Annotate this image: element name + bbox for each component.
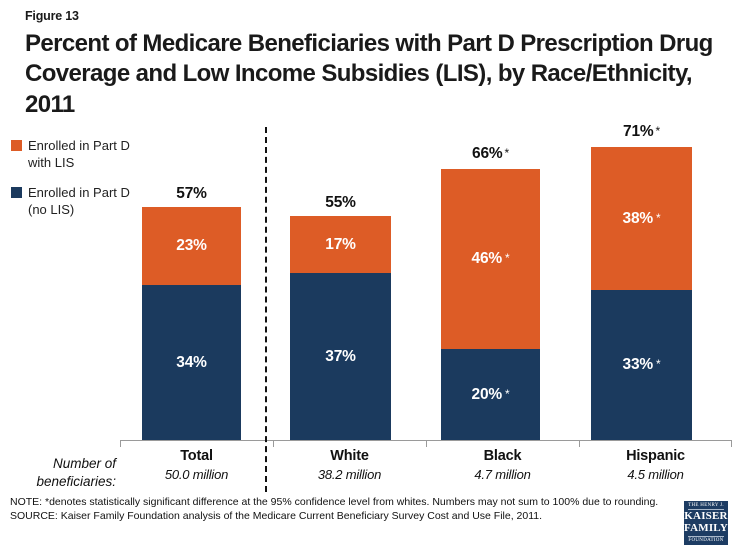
bar-segment-with-lis-black[interactable]: 46%* <box>441 169 540 349</box>
bar-group-black[interactable]: 66%* 46%* 20%* <box>441 169 540 440</box>
page-title: Percent of Medicare Beneficiaries with P… <box>25 29 725 120</box>
legend-swatch-no-lis <box>11 187 22 198</box>
footer-notes: NOTE: *denotes statistically significant… <box>10 495 670 524</box>
category-axis-labels: Total 50.0 million White 38.2 million Bl… <box>120 448 732 492</box>
bar-total-label-white: 55% <box>290 194 391 212</box>
bar-stack-total: 23% 34% <box>142 207 241 440</box>
bar-segment-label-with-lis-white: 17% <box>325 236 355 254</box>
bar-segment-label-with-lis-total: 23% <box>176 237 206 255</box>
category-black: Black 4.7 million <box>426 448 579 482</box>
category-sublabel-total: 50.0 million <box>120 467 273 482</box>
bar-segment-label-with-lis-hispanic: 38%* <box>623 210 661 228</box>
bar-total-label-hispanic: 71%* <box>591 123 692 141</box>
significance-marker-total-hispanic: * <box>655 124 659 138</box>
axis-tick-1 <box>273 441 274 447</box>
axis-tick-2 <box>426 441 427 447</box>
axis-tick-3 <box>579 441 580 447</box>
kff-logo-line4: FOUNDATION <box>688 536 724 543</box>
kff-logo: THE HENRY J. KAISER FAMILY FOUNDATION <box>683 500 729 546</box>
bar-segment-with-lis-white[interactable]: 17% <box>290 216 391 273</box>
category-sublabel-hispanic: 4.5 million <box>579 467 732 482</box>
legend-swatch-with-lis <box>11 140 22 151</box>
category-sublabel-white: 38.2 million <box>273 467 426 482</box>
chart-plot-area: 57% 23% 34% 55% 17% 37% 66%* <box>120 120 732 441</box>
category-total: Total 50.0 million <box>120 448 273 482</box>
bar-segment-label-no-lis-hispanic: 33%* <box>623 356 661 374</box>
beneficiaries-axis-label: Number of beneficiaries: <box>8 455 116 491</box>
footnote-source: SOURCE: Kaiser Family Foundation analysi… <box>10 509 670 523</box>
category-name-hispanic: Hispanic <box>579 448 732 464</box>
group-divider-line <box>265 127 267 492</box>
kff-logo-line3: FAMILY <box>684 523 728 535</box>
bar-total-label-black: 66%* <box>441 145 540 163</box>
bar-group-white[interactable]: 55% 17% 37% <box>290 216 391 440</box>
category-sublabel-black: 4.7 million <box>426 467 579 482</box>
bar-segment-with-lis-hispanic[interactable]: 38%* <box>591 147 692 290</box>
bar-segment-no-lis-total[interactable]: 34% <box>142 285 241 440</box>
bar-group-hispanic[interactable]: 71%* 38%* 33%* <box>591 147 692 440</box>
bar-total-label-total: 57% <box>142 185 241 203</box>
axis-tick-4 <box>731 441 732 447</box>
category-name-total: Total <box>120 448 273 464</box>
figure-label: Figure 13 <box>25 9 79 23</box>
bar-stack-white: 17% 37% <box>290 216 391 440</box>
bar-segment-label-no-lis-black: 20%* <box>472 386 510 404</box>
category-name-black: Black <box>426 448 579 464</box>
significance-marker-total-black: * <box>504 146 508 160</box>
bar-segment-no-lis-white[interactable]: 37% <box>290 273 391 440</box>
bar-group-total[interactable]: 57% 23% 34% <box>142 207 241 440</box>
bar-stack-hispanic: 38%* 33%* <box>591 147 692 440</box>
axis-tick-0 <box>120 441 121 447</box>
category-hispanic: Hispanic 4.5 million <box>579 448 732 482</box>
category-name-white: White <box>273 448 426 464</box>
bar-stack-black: 46%* 20%* <box>441 169 540 440</box>
bar-segment-label-with-lis-black: 46%* <box>472 250 510 268</box>
bar-segment-label-no-lis-total: 34% <box>176 354 206 372</box>
bar-segment-no-lis-hispanic[interactable]: 33%* <box>591 290 692 440</box>
footnote-note: NOTE: *denotes statistically significant… <box>10 495 670 509</box>
category-white: White 38.2 million <box>273 448 426 482</box>
kff-logo-line1: THE HENRY J. <box>688 503 724 510</box>
bar-segment-with-lis-total[interactable]: 23% <box>142 207 241 285</box>
bar-segment-no-lis-black[interactable]: 20%* <box>441 349 540 440</box>
bar-segment-label-no-lis-white: 37% <box>325 348 355 366</box>
